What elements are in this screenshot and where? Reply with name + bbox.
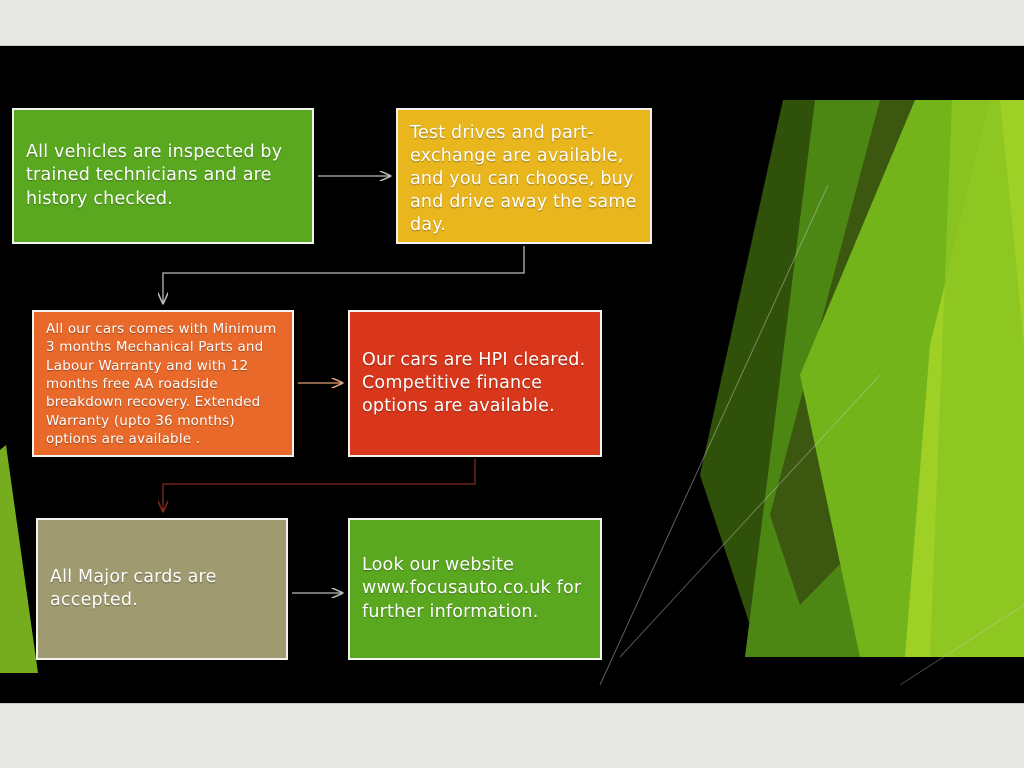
flow-node-test-drives[interactable]: Test drives and part-exchange are availa… [396, 108, 652, 244]
flow-node-warranty-label: All our cars comes with Minimum 3 months… [34, 312, 292, 449]
flow-node-website[interactable]: Look our website www.focusauto.co.uk for… [348, 518, 602, 660]
flow-node-cards-label: All Major cards are accepted. [38, 566, 286, 612]
flow-node-inspection-label: All vehicles are inspected by trained te… [14, 141, 312, 210]
connector-n2-to-n3 [163, 246, 524, 303]
slide-canvas: All vehicles are inspected by trained te… [0, 45, 1024, 703]
flow-node-hpi-finance[interactable]: Our cars are HPI cleared. Competitive fi… [348, 310, 602, 457]
flow-node-inspection[interactable]: All vehicles are inspected by trained te… [12, 108, 314, 244]
letterbox-bottom [0, 703, 1024, 768]
flow-node-hpi-finance-label: Our cars are HPI cleared. Competitive fi… [350, 349, 600, 418]
flow-node-cards[interactable]: All Major cards are accepted. [36, 518, 288, 660]
slide-stage: All vehicles are inspected by trained te… [0, 0, 1024, 768]
flow-node-test-drives-label: Test drives and part-exchange are availa… [398, 110, 650, 237]
connector-n4-to-n5 [163, 459, 475, 511]
letterbox-top [0, 0, 1024, 46]
flow-node-warranty[interactable]: All our cars comes with Minimum 3 months… [32, 310, 294, 457]
flow-node-website-label: Look our website www.focusauto.co.uk for… [350, 554, 600, 623]
